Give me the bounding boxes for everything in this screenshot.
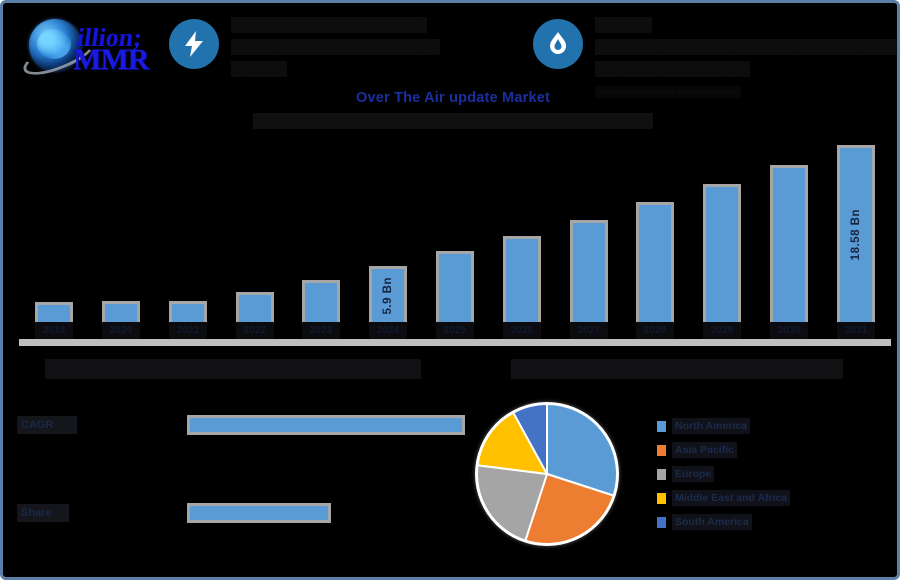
bar-x-axis-label: 2027 [570,322,608,339]
bar [636,202,674,322]
bar-value-label: 5.9 Bn [382,277,394,315]
bar-column: 2029 [703,184,741,339]
bar-x-axis-label: 2023 [302,322,340,339]
bar-chart: 201920202021202220235.9 Bn20242025202620… [21,131,889,339]
bar-x-axis-label: 2021 [169,322,207,339]
header-right-line2: Over The Air update Market Global Indust… [595,39,900,55]
legend-item: Asia Pacific [657,439,857,461]
header: illion; MMR MAXIMIZE MARKET RESEARCH GLO… [3,3,900,87]
header-left-line2: GLOBAL MARKET INTELLIGENCE [231,39,440,55]
legend-label: South America [672,514,752,530]
header-right-line1: MARKET [595,17,652,33]
metric-bar [187,415,465,435]
bar-column: 2021 [169,301,207,339]
legend-color-swatch [657,493,666,504]
header-left-line1: MAXIMIZE MARKET RESEARCH [231,17,427,33]
bar [770,165,808,322]
legend-label: Asia Pacific [672,442,737,458]
metric-row: CAGR [17,414,467,440]
flame-drop-icon [533,19,583,69]
brand-logo[interactable]: illion; MMR [17,13,149,77]
header-right-line3: AND FORECAST TO 2031 [595,61,750,77]
bar-x-axis-label: 2029 [703,322,741,339]
bar [102,301,140,322]
pie-chart [475,402,619,546]
pie-chart-graphic [475,402,619,546]
header-left-text: MAXIMIZE MARKET RESEARCH GLOBAL MARKET I… [231,17,499,82]
bar-column: 2019 [35,302,73,339]
bar-x-axis-label: 2031 [837,322,875,339]
legend-item: Middle East and Africa [657,487,857,509]
legend-color-swatch [657,469,666,480]
bar [35,302,73,322]
legend-item: Europe [657,463,857,485]
brand-logo-text: MMR [73,43,148,77]
legend-label: North America [672,418,750,434]
bar-value-label: 18.58 Bn [850,209,862,260]
bar-column: 18.58 Bn2031 [837,145,875,339]
bar-x-axis-label: 2020 [102,322,140,339]
bar [703,184,741,322]
info-strip-left: Market Size in 2024: USD 5.9 Bn | CAGR 1… [45,359,421,379]
legend-color-swatch [657,517,666,528]
pie-chart-legend: North AmericaAsia PacificEuropeMiddle Ea… [657,415,857,535]
bar-column: 2022 [236,292,274,339]
bar: 5.9 Bn [369,266,407,322]
header-left-block: MAXIMIZE MARKET RESEARCH GLOBAL MARKET I… [169,17,499,75]
metric-label: CAGR [17,416,77,434]
bar-column: 2025 [436,251,474,339]
page-title: Over The Air update Market [3,90,900,106]
legend-color-swatch [657,421,666,432]
header-right-block: MARKET Over The Air update Market Global… [533,17,895,75]
legend-item: South America [657,511,857,533]
bar-x-axis-label: 2025 [436,322,474,339]
header-left-line3: REPORT [231,61,287,77]
bar-x-axis-label: 2022 [236,322,274,339]
bar-x-axis-label: 2019 [35,322,73,339]
bar-column: 2023 [302,280,340,339]
bar-column: 5.9 Bn2024 [369,266,407,339]
bar-column: 2027 [570,220,608,339]
bar-column: 2028 [636,202,674,339]
info-strip-right: Market Size in 2031: USD 18.58 Bn [511,359,843,379]
legend-item: North America [657,415,857,437]
header-right-text: MARKET Over The Air update Market Global… [595,17,895,100]
bar-x-axis-label: 2030 [770,322,808,339]
bar [503,236,541,322]
bar-x-axis-label: 2026 [503,322,541,339]
bar-column: 2030 [770,165,808,339]
bar [169,301,207,322]
page-subtitle: Market Size in USD Billion, Global Forec… [253,113,653,129]
bar [236,292,274,322]
bar [302,280,340,322]
bar-x-axis-label: 2028 [636,322,674,339]
legend-label: Europe [672,466,714,482]
bar-column: 2020 [102,301,140,339]
metric-row: Share [17,502,337,528]
metric-label: Share [17,504,69,522]
bar-x-axis-label: 2024 [369,322,407,339]
bar-column: 2026 [503,236,541,339]
bar [436,251,474,322]
bar: 18.58 Bn [837,145,875,322]
legend-color-swatch [657,445,666,456]
bar [570,220,608,322]
legend-label: Middle East and Africa [672,490,790,506]
metric-bar [187,503,331,523]
lightning-bolt-icon [169,19,219,69]
report-infographic-page: illion; MMR MAXIMIZE MARKET RESEARCH GLO… [0,0,900,580]
chart-axis-line [19,339,891,346]
